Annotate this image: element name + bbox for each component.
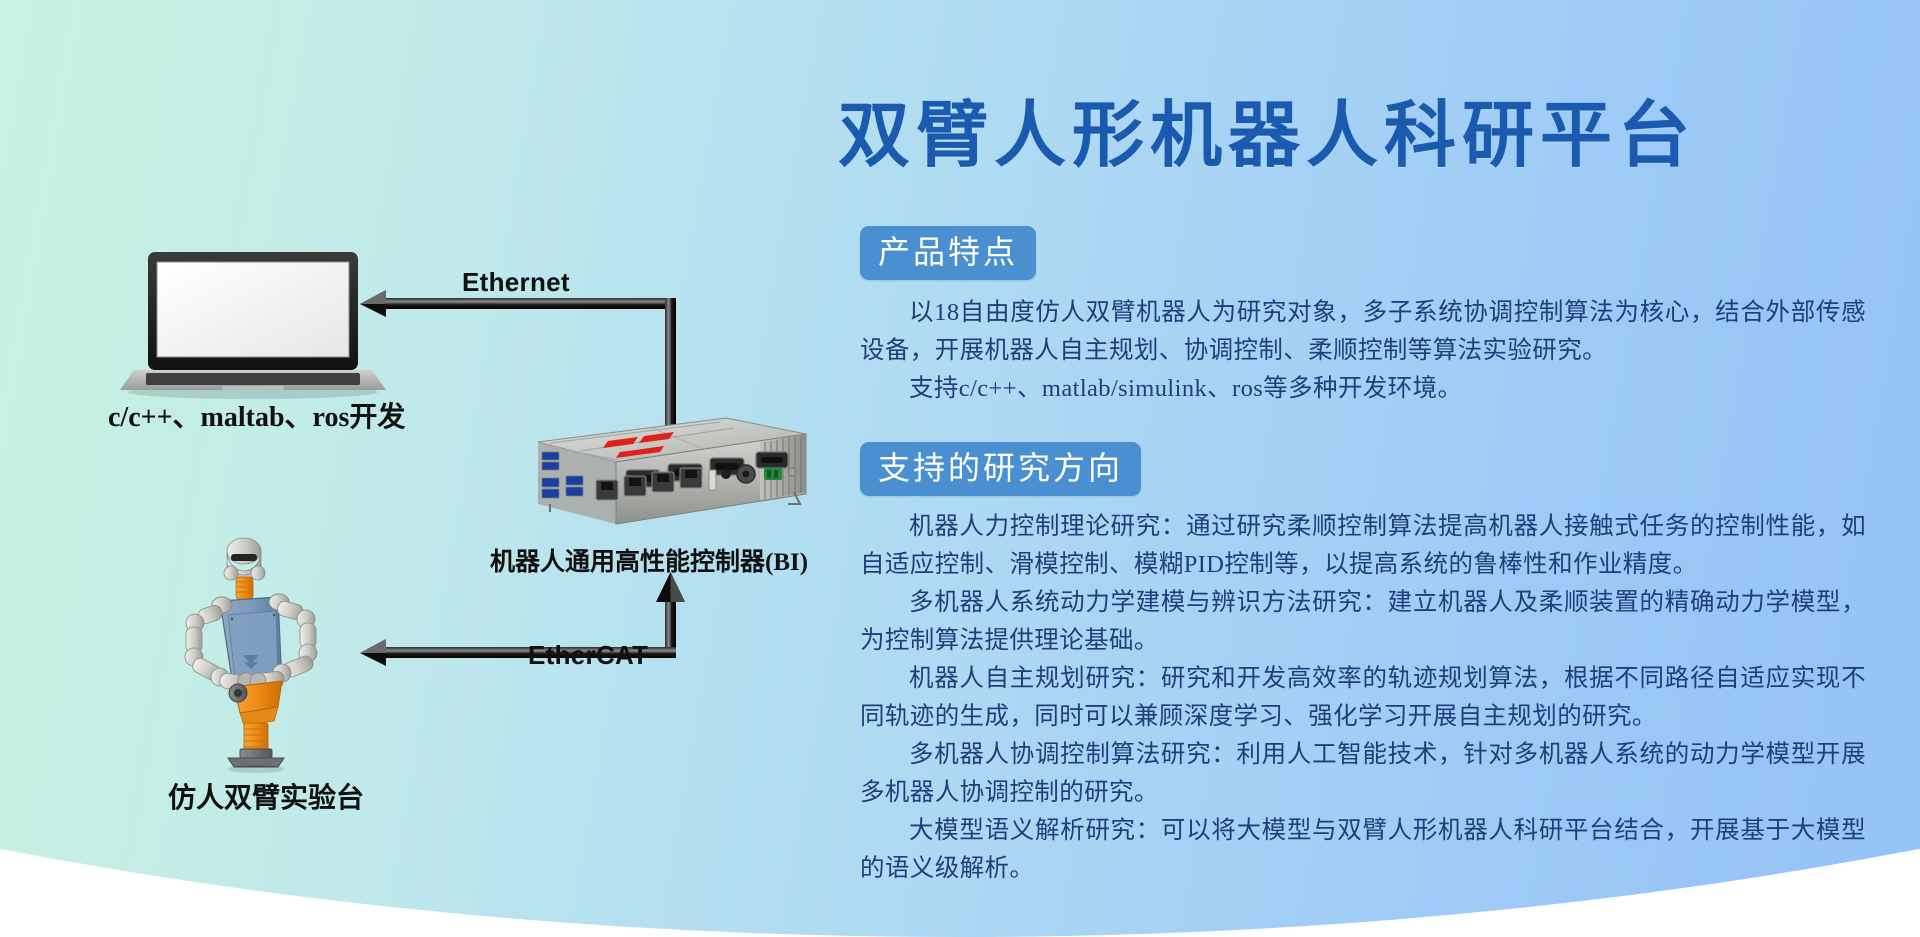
system-diagram: c/c++、maltab、ros开发 xyxy=(0,0,860,937)
ethercat-label: EtherCAT xyxy=(528,640,648,671)
badge-research-directions: 支持的研究方向 xyxy=(860,442,1141,496)
section-features-body: 以18自由度仿人双臂机器人为研究对象，多子系统协调控制算法为核心，结合外部传感设… xyxy=(838,294,1880,408)
direction-paragraph: 多机器人协调控制算法研究：利用人工智能技术，针对多机器人系统的动力学模型开展多机… xyxy=(838,736,1880,812)
section-features-header: 产品特点 xyxy=(860,226,1880,280)
page-title: 双臂人形机器人科研平台 xyxy=(838,100,1880,172)
feature-paragraph: 以18自由度仿人双臂机器人为研究对象，多子系统协调控制算法为核心，结合外部传感设… xyxy=(838,294,1880,370)
humanoid-robot-icon xyxy=(178,535,368,775)
content-column: 双臂人形机器人科研平台 产品特点 以18自由度仿人双臂机器人为研究对象，多子系统… xyxy=(838,100,1880,888)
section-directions-body: 机器人力控制理论研究：通过研究柔顺控制算法提高机器人接触式任务的控制性能，如自适… xyxy=(838,508,1880,888)
robot-label: 仿人双臂实验台 xyxy=(168,776,364,816)
direction-paragraph: 机器人力控制理论研究：通过研究柔顺控制算法提高机器人接触式任务的控制性能，如自适… xyxy=(838,508,1880,584)
direction-paragraph: 大模型语义解析研究：可以将大模型与双臂人形机器人科研平台结合，开展基于大模型的语… xyxy=(838,812,1880,888)
feature-paragraph: 支持c/c++、matlab/simulink、ros等多种开发环境。 xyxy=(838,370,1880,408)
controller-icon xyxy=(520,412,810,537)
poster-root: c/c++、maltab、ros开发 xyxy=(0,0,1920,937)
direction-paragraph: 多机器人系统动力学建模与辨识方法研究：建立机器人及柔顺装置的精确动力学模型，为控… xyxy=(838,584,1880,660)
badge-product-features: 产品特点 xyxy=(860,226,1036,280)
section-directions-header: 支持的研究方向 xyxy=(860,442,1880,496)
laptop-icon xyxy=(118,250,388,400)
direction-paragraph: 机器人自主规划研究：研究和开发高效率的轨迹规划算法，根据不同路径自适应实现不同轨… xyxy=(838,660,1880,736)
ethernet-label: Ethernet xyxy=(462,267,570,298)
